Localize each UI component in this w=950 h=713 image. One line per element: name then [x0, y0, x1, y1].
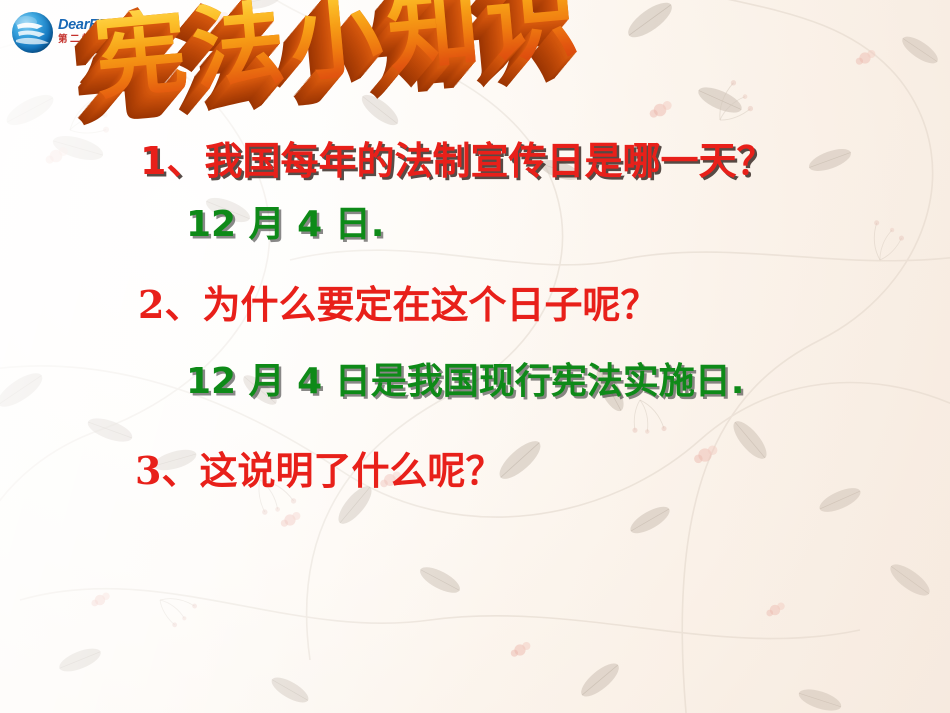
slide-canvas: DearEDU.com 第二教育网 宪法小知识 宪法小知识 1、我国每年的法制宣…: [0, 0, 950, 713]
question-line-1: 1、我国每年的法制宣传日是哪一天？: [140, 142, 774, 180]
page-title: 宪法小知识: [91, 0, 587, 106]
answer-line-1: 12 月 4 日.: [186, 207, 384, 243]
question-line-3: 3、这说明了什么呢？: [135, 452, 503, 490]
question-line-2: 2、为什么要定在这个日子呢？: [138, 286, 658, 324]
globe-swoosh-icon: [12, 12, 53, 53]
answer-line-2: 12 月 4 日是我国现行宪法实施日.: [186, 364, 744, 400]
